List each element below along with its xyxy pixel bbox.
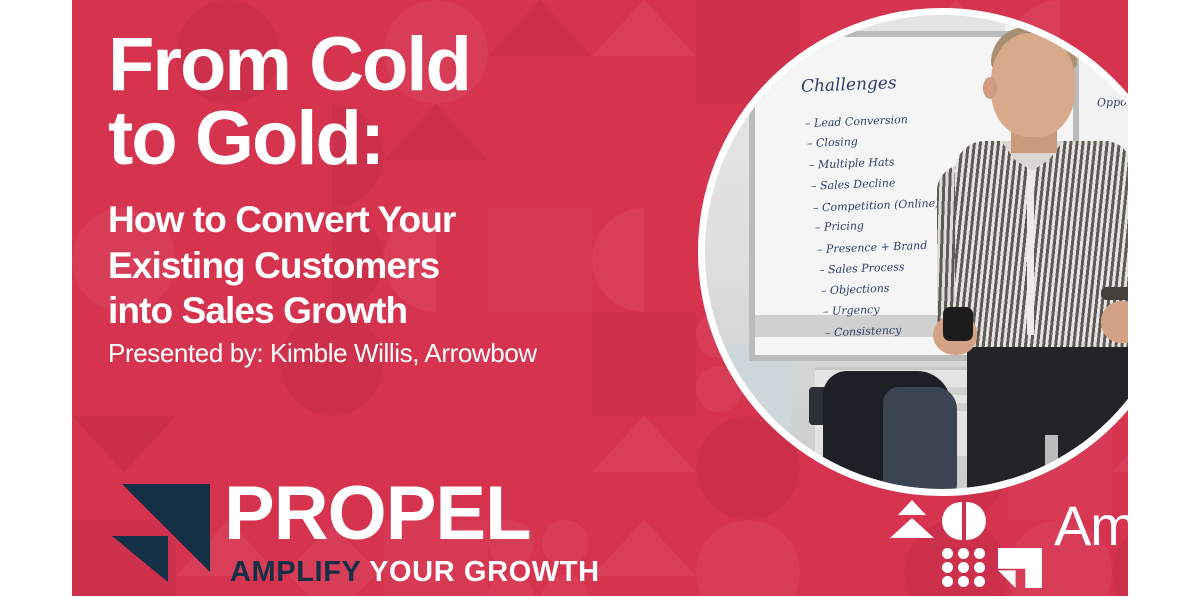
whiteboard-heading: Challenges <box>801 73 897 97</box>
speaker-leg-gap <box>1045 435 1058 489</box>
whiteboard-opportunities-heading: Opportunities <box>1097 94 1128 110</box>
speaker-photo: Panasonic Challenges ome! Opportunities … <box>705 15 1128 489</box>
speaker-ear <box>983 77 997 99</box>
pattern-shape <box>592 416 696 472</box>
propel-wordmark: PROPEL <box>224 476 531 552</box>
projector-brand-label: Panasonic <box>763 39 811 49</box>
title-text-block: From Cold to Gold: How to Convert Your E… <box>108 28 688 369</box>
shirt-placket <box>1027 165 1034 335</box>
dot-grid-icon <box>942 548 986 588</box>
arrow-triangle-icon <box>998 548 1042 588</box>
presentation-clicker <box>943 307 973 341</box>
presentation-slide: From Cold to Gold: How to Convert Your E… <box>0 0 1200 600</box>
stacked-triangles-icon <box>890 500 934 540</box>
propel-tagline: AMPLIFY YOUR GROWTH <box>230 556 600 589</box>
pattern-shape <box>72 416 176 472</box>
speaker-watch <box>1101 287 1128 300</box>
speaker-photo-circle: Panasonic Challenges ome! Opportunities … <box>698 8 1128 496</box>
room-window <box>723 345 791 465</box>
whiteboard-list-item: – Closing <box>807 135 858 150</box>
facing-half-circles-icon <box>942 502 986 540</box>
amplify-logo: Amplify <box>890 500 1128 590</box>
red-background-panel: From Cold to Gold: How to Convert Your E… <box>72 0 1128 596</box>
pattern-shape <box>696 520 800 596</box>
whiteboard-list-item: – Pricing <box>815 219 864 234</box>
whiteboard-list-item: – Objections <box>821 282 890 298</box>
draped-jacket <box>883 387 957 489</box>
propel-logo: PROPEL AMPLIFY YOUR GROWTH <box>112 476 622 588</box>
propel-arrow-mark-icon <box>112 484 210 582</box>
whiteboard-list-item: – Urgency <box>823 303 880 318</box>
page-subtitle: How to Convert Your Existing Customers i… <box>108 197 688 332</box>
presenter-line: Presented by: Kimble Willis, Arrowbow <box>108 337 688 370</box>
projector-indicator-icon <box>755 42 759 46</box>
page-title: From Cold to Gold: <box>108 28 688 175</box>
propel-tagline-growth: YOUR GROWTH <box>361 556 600 588</box>
amplify-wordmark: Amplify <box>1054 498 1128 554</box>
propel-tagline-amplify: AMPLIFY <box>230 556 361 588</box>
speaker-head <box>991 33 1075 137</box>
propel-mark-small-triangle-icon <box>112 536 168 582</box>
